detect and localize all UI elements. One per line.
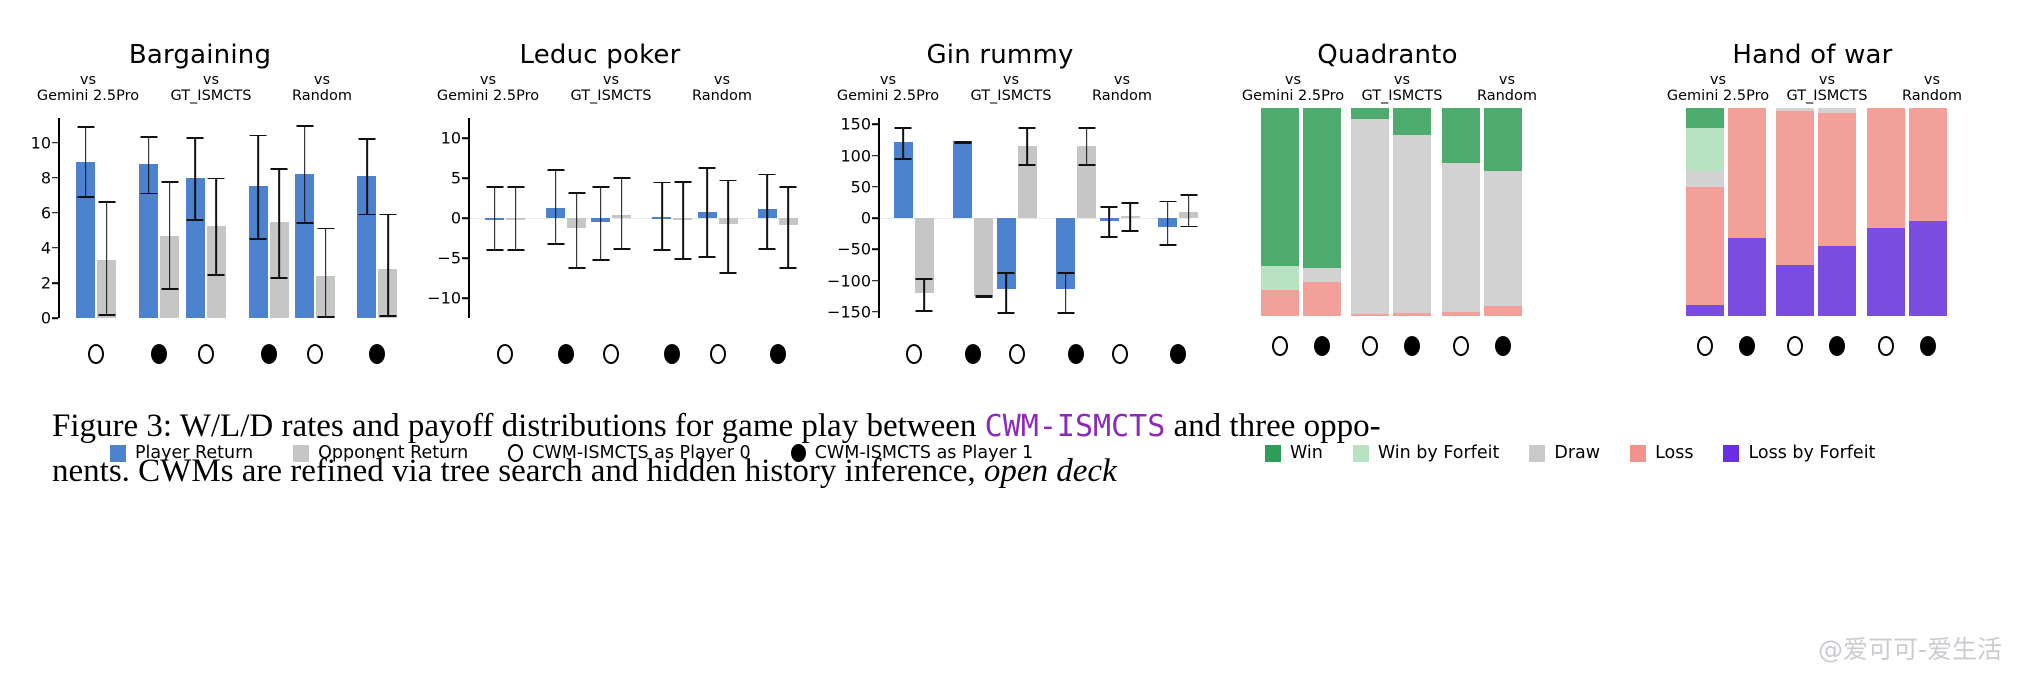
error-bar-line <box>1065 272 1067 311</box>
plot-area-bargaining: 0246810 <box>58 118 390 318</box>
stacked-bar <box>1776 108 1814 316</box>
y-axis-tick-label: 0 <box>41 309 51 328</box>
stacked-bar <box>1728 108 1766 316</box>
stacked-bar <box>1484 108 1522 316</box>
stacked-bar <box>1686 108 1724 316</box>
caption-text-pre: Figure 3: W/L/D rates and payoff distrib… <box>52 408 985 444</box>
error-bar-cap-bottom <box>1122 230 1139 232</box>
player-marker-player0 <box>603 344 619 364</box>
panel-bargaining: Bargaining vs Gemini 2.5Pro vs GT_ISMCTS… <box>0 40 400 390</box>
segment-draw <box>1351 119 1389 313</box>
segment-loss <box>1728 108 1766 238</box>
segment-draw <box>1484 171 1522 305</box>
y-axis-tick-label: 6 <box>41 203 51 222</box>
plot-area-gin-rummy: −150−100−50050100150 <box>878 118 1190 318</box>
watermark: @爱可可-爱生活 <box>1818 630 2002 666</box>
error-bar-cap-bottom <box>720 272 737 274</box>
error-bar-cap-top <box>780 186 797 188</box>
y-axis-tick <box>872 155 878 157</box>
group-label-line2: Random <box>262 89 382 105</box>
y-axis-tick <box>52 317 58 319</box>
error-bar-cap-top <box>699 167 716 169</box>
y-axis-tick-label: 10 <box>441 129 461 148</box>
panel-title-bargaining: Bargaining <box>0 40 400 70</box>
player-marker-player0 <box>198 344 214 364</box>
error-bar-cap-bottom <box>161 288 178 290</box>
error-bar-line <box>555 169 557 243</box>
error-bar-line <box>215 178 217 274</box>
error-bar-cap-top <box>1122 202 1139 204</box>
error-bar-cap-top <box>140 136 157 138</box>
error-bar-line <box>706 167 708 257</box>
segment-loss <box>1776 111 1814 265</box>
segment-loss-by-forfeit <box>1818 246 1856 316</box>
player-marker-player1 <box>965 344 981 364</box>
segment-loss <box>1818 113 1856 246</box>
y-axis-tick-label: −5 <box>437 249 461 268</box>
y-axis-tick-label: 50 <box>851 177 871 196</box>
segment-win <box>1442 108 1480 163</box>
group-label-line2: Random <box>662 89 782 105</box>
y-axis-tick-label: −50 <box>837 240 871 259</box>
group-label-line2: Random <box>1447 89 1567 105</box>
y-axis-tick <box>872 311 878 313</box>
player-marker-player0 <box>906 344 922 364</box>
y-axis-tick-label: 10 <box>31 133 51 152</box>
error-bar-line <box>1108 206 1110 236</box>
error-bar-cap-top <box>568 192 585 194</box>
y-axis-tick <box>872 248 878 250</box>
segment-win <box>1303 108 1341 268</box>
y-axis-tick <box>872 186 878 188</box>
error-bar-line <box>903 127 905 158</box>
plot-area-quadranto <box>1239 108 1539 316</box>
segment-loss-by-forfeit <box>1867 228 1905 316</box>
segment-loss-by-forfeit <box>1776 265 1814 316</box>
stacked-bar <box>1442 108 1480 316</box>
panel-gin-rummy: Gin rummy vs Gemini 2.5Pro vs GT_ISMCTS … <box>800 40 1200 390</box>
error-bar-cap-top <box>486 186 503 188</box>
segment-loss <box>1484 306 1522 316</box>
group-label-line1: vs <box>418 73 558 89</box>
error-bar-cap-top <box>250 135 267 137</box>
segment-loss <box>1261 290 1299 316</box>
player-marker-player0 <box>1878 336 1894 356</box>
error-bar-cap-bottom <box>358 214 375 216</box>
caption-text-line2: nents. CWMs are refined via tree search … <box>52 453 984 489</box>
player-marker-player0 <box>1272 336 1288 356</box>
panel-title-leduc-poker: Leduc poker <box>400 40 800 70</box>
panel-leduc-poker: Leduc poker vs Gemini 2.5Pro vs GT_ISMCT… <box>400 40 800 390</box>
error-bar-line <box>494 186 496 249</box>
group-label-line1: vs <box>1872 73 1992 89</box>
player-marker-player0 <box>1453 336 1469 356</box>
segment-draw <box>1393 135 1431 313</box>
error-bar-line <box>600 186 602 258</box>
segment-loss <box>1867 108 1905 228</box>
player-marker-player0 <box>1112 344 1128 364</box>
error-bar-cap-bottom <box>699 256 716 258</box>
error-bar-line <box>257 135 259 239</box>
plot-area-leduc-poker: −10−50510 <box>468 118 790 318</box>
segment-win-by-forfeit <box>1686 128 1724 172</box>
group-label-line1: vs <box>18 73 158 89</box>
error-bar-line <box>169 181 171 288</box>
error-bar-cap-bottom <box>140 193 157 195</box>
y-axis-tick <box>52 247 58 249</box>
error-bar-cap-bottom <box>916 310 933 312</box>
error-bar-cap-bottom <box>998 312 1015 314</box>
error-bar-cap-bottom <box>486 249 503 251</box>
y-axis-tick <box>462 177 468 179</box>
error-bar-cap-bottom <box>317 316 334 318</box>
y-axis-tick <box>462 217 468 219</box>
stacked-bar <box>1818 108 1856 316</box>
player-marker-player0 <box>1362 336 1378 356</box>
segment-win <box>1261 108 1299 266</box>
player-marker-player1 <box>1170 344 1186 364</box>
error-bar-cap-bottom <box>271 277 288 279</box>
error-bar-cap-bottom <box>379 315 396 317</box>
y-axis-tick-label: 100 <box>840 146 871 165</box>
error-bar-cap-bottom <box>613 248 630 250</box>
error-bar-line <box>727 180 729 273</box>
error-bar-cap-top <box>208 178 225 180</box>
y-axis-tick-label: 0 <box>451 209 461 228</box>
error-bar-line <box>576 192 578 267</box>
bar-player-return <box>953 141 972 218</box>
error-bar-cap-top <box>296 125 313 127</box>
group-label-line1: vs <box>1062 73 1182 89</box>
segment-loss <box>1351 314 1389 316</box>
y-axis-tick-label: 150 <box>840 115 871 134</box>
player-marker-player0 <box>497 344 513 364</box>
error-bar-line <box>515 186 517 248</box>
error-bar-cap-bottom <box>568 267 585 269</box>
y-axis-tick-label: 0 <box>861 209 871 228</box>
segment-draw <box>1686 171 1724 187</box>
player-marker-player1 <box>664 344 680 364</box>
group-label-line1: vs <box>946 73 1076 89</box>
error-bar-cap-bottom <box>759 248 776 250</box>
error-bar-line <box>621 177 623 249</box>
group-label-line1: vs <box>662 73 782 89</box>
error-bar-cap-top <box>77 126 94 128</box>
error-bar-cap-bottom <box>1078 164 1095 166</box>
error-bar-line <box>766 174 768 249</box>
panel-title-gin-rummy: Gin rummy <box>800 40 1200 70</box>
player-marker-player1 <box>558 344 574 364</box>
group-label-line2: Gemini 2.5Pro <box>18 89 158 105</box>
error-bar-cap-bottom <box>98 314 115 316</box>
error-bar-line <box>387 214 389 316</box>
group-label-line1: vs <box>546 73 676 89</box>
player-marker-player0 <box>1787 336 1803 356</box>
plot-area-hand-of-war <box>1664 108 1964 316</box>
segment-loss <box>1393 313 1431 316</box>
segment-win <box>1393 108 1431 135</box>
error-bar-cap-bottom <box>954 142 971 144</box>
segment-loss <box>1442 312 1480 316</box>
figure-3-panel-grid: Bargaining vs Gemini 2.5Pro vs GT_ISMCTS… <box>0 0 2026 676</box>
y-axis-tick <box>872 280 878 282</box>
player-marker-player0 <box>88 344 104 364</box>
error-bar-cap-top <box>653 182 670 184</box>
error-bar-cap-bottom <box>1159 244 1176 246</box>
error-bar-line <box>1005 272 1007 311</box>
error-bar-cap-bottom <box>296 222 313 224</box>
error-bar-cap-bottom <box>1180 226 1197 228</box>
error-bar-cap-top <box>379 214 396 216</box>
player-marker-player1 <box>369 344 385 364</box>
y-axis-tick <box>52 282 58 284</box>
error-bar-cap-top <box>507 186 524 188</box>
group-label-line2: GT_ISMCTS <box>946 89 1076 105</box>
player-marker-player1 <box>1495 336 1511 356</box>
error-bar-line <box>1167 201 1169 245</box>
caption-italic-open-deck: open deck <box>984 453 1117 489</box>
player-marker-player1 <box>1739 336 1755 356</box>
player-marker-player1 <box>1829 336 1845 356</box>
error-bar-cap-bottom <box>77 196 94 198</box>
error-bar-cap-top <box>1180 194 1197 196</box>
y-axis-tick-label: 5 <box>451 169 461 188</box>
error-bar-line <box>85 126 87 196</box>
player-marker-player0 <box>710 344 726 364</box>
error-bar-cap-bottom <box>1019 164 1036 166</box>
group-label-line2: Random <box>1872 89 1992 105</box>
error-bar-line <box>1188 194 1190 225</box>
error-bar-cap-top <box>1078 127 1095 129</box>
error-bar-cap-top <box>674 181 691 183</box>
error-bar-cap-bottom <box>592 259 609 261</box>
panel-quadranto: Quadranto vs Gemini 2.5Pro vs GT_ISMCTS … <box>1215 40 1560 390</box>
error-bar-cap-top <box>1057 272 1074 274</box>
segment-loss <box>1686 187 1724 305</box>
error-bar-cap-bottom <box>1101 236 1118 238</box>
error-bar-cap-top <box>720 180 737 182</box>
y-axis-tick <box>462 137 468 139</box>
player-marker-player1 <box>770 344 786 364</box>
y-axis-tick <box>52 142 58 144</box>
group-label-line1: vs <box>1447 73 1567 89</box>
error-bar-cap-top <box>358 138 375 140</box>
error-bar-cap-top <box>895 127 912 129</box>
error-bar-cap-top <box>187 137 204 139</box>
segment-loss-by-forfeit <box>1909 221 1947 316</box>
panel-title-hand-of-war: Hand of war <box>1640 40 1985 70</box>
error-bar-cap-bottom <box>547 243 564 245</box>
figure-caption: Figure 3: W/L/D rates and payoff distrib… <box>52 404 1982 493</box>
caption-code-cwm-ismcts: CWM-ISMCTS <box>985 409 1166 444</box>
y-axis-tick-label: 2 <box>41 273 51 292</box>
segment-draw <box>1442 163 1480 312</box>
segment-loss <box>1909 108 1947 221</box>
error-bar-cap-top <box>317 228 334 230</box>
player-marker-player1 <box>1404 336 1420 356</box>
error-bar-cap-top <box>547 169 564 171</box>
y-axis-tick <box>462 257 468 259</box>
error-bar-line <box>325 228 327 317</box>
player-marker-player1 <box>1920 336 1936 356</box>
player-marker-player1 <box>1314 336 1330 356</box>
stacked-bar <box>1261 108 1299 316</box>
error-bar-line <box>1129 202 1131 230</box>
segment-draw <box>1303 268 1341 282</box>
player-marker-player0 <box>1697 336 1713 356</box>
error-bar-cap-top <box>998 272 1015 274</box>
error-bar-cap-top <box>161 181 178 183</box>
panel-hand-of-war: Hand of war vs Gemini 2.5Pro vs GT_ISMCT… <box>1640 40 1985 390</box>
group-label-line2: GT_ISMCTS <box>546 89 676 105</box>
player-marker-player0 <box>1009 344 1025 364</box>
error-bar-cap-bottom <box>653 249 670 251</box>
error-bar-cap-bottom <box>895 158 912 160</box>
stacked-bar <box>1393 108 1431 316</box>
error-bar-line <box>1086 127 1088 164</box>
group-label-line1: vs <box>146 73 276 89</box>
group-label-line2: GT_ISMCTS <box>146 89 276 105</box>
y-axis-tick-label: 4 <box>41 238 51 257</box>
error-bar-cap-top <box>271 168 288 170</box>
error-bar-cap-top <box>592 186 609 188</box>
y-axis-tick-label: −100 <box>827 271 871 290</box>
stacked-bar <box>1909 108 1947 316</box>
error-bar-cap-bottom <box>250 238 267 240</box>
error-bar-cap-bottom <box>674 258 691 260</box>
group-label-line1: vs <box>818 73 958 89</box>
segment-loss-by-forfeit <box>1728 238 1766 316</box>
error-bar-cap-top <box>1019 127 1036 129</box>
error-bar-line <box>924 278 926 310</box>
group-label-line2: Random <box>1062 89 1182 105</box>
player-marker-player1 <box>261 344 277 364</box>
error-bar-line <box>366 138 368 213</box>
error-bar-cap-bottom <box>1057 312 1074 314</box>
error-bar-cap-bottom <box>187 219 204 221</box>
stacked-bar <box>1351 108 1389 316</box>
bar-opponent-return <box>974 218 993 296</box>
error-bar-cap-bottom <box>208 274 225 276</box>
panel-title-quadranto: Quadranto <box>1215 40 1560 70</box>
caption-text-mid: and three oppo- <box>1165 408 1380 444</box>
y-axis-tick <box>872 123 878 125</box>
y-axis-tick <box>462 297 468 299</box>
error-bar-cap-top <box>1159 201 1176 203</box>
error-bar-cap-bottom <box>975 296 992 298</box>
error-bar-line <box>787 186 789 267</box>
stacked-bar <box>1867 108 1905 316</box>
y-axis-tick <box>52 212 58 214</box>
y-axis-tick <box>872 217 878 219</box>
y-axis-tick <box>52 177 58 179</box>
segment-loss <box>1303 282 1341 316</box>
player-marker-player1 <box>1068 344 1084 364</box>
error-bar-cap-top <box>1101 206 1118 208</box>
y-axis-tick-label: −10 <box>427 289 461 308</box>
y-axis-tick-label: −150 <box>827 302 871 321</box>
error-bar-cap-top <box>613 177 630 179</box>
error-bar-line <box>682 181 684 258</box>
error-bar-line <box>304 125 306 222</box>
error-bar-cap-bottom <box>507 249 524 251</box>
group-label-line1: vs <box>262 73 382 89</box>
segment-loss-by-forfeit <box>1686 305 1724 316</box>
group-label-line2: Gemini 2.5Pro <box>818 89 958 105</box>
error-bar-line <box>194 137 196 219</box>
error-bar-cap-top <box>916 278 933 280</box>
y-axis-tick-label: 8 <box>41 168 51 187</box>
segment-win <box>1484 108 1522 171</box>
error-bar-cap-bottom <box>780 267 797 269</box>
error-bar-line <box>148 136 150 192</box>
stacked-bar <box>1303 108 1341 316</box>
group-label-line2: Gemini 2.5Pro <box>418 89 558 105</box>
error-bar-line <box>278 168 280 277</box>
error-bar-line <box>661 182 663 249</box>
y-axis-line <box>58 118 60 318</box>
segment-win <box>1686 108 1724 128</box>
player-marker-player0 <box>307 344 323 364</box>
error-bar-line <box>106 201 108 314</box>
segment-win-by-forfeit <box>1261 266 1299 290</box>
error-bar-cap-top <box>759 174 776 176</box>
player-marker-player1 <box>151 344 167 364</box>
error-bar-cap-top <box>98 201 115 203</box>
segment-win <box>1351 108 1389 119</box>
error-bar-line <box>1026 127 1028 164</box>
